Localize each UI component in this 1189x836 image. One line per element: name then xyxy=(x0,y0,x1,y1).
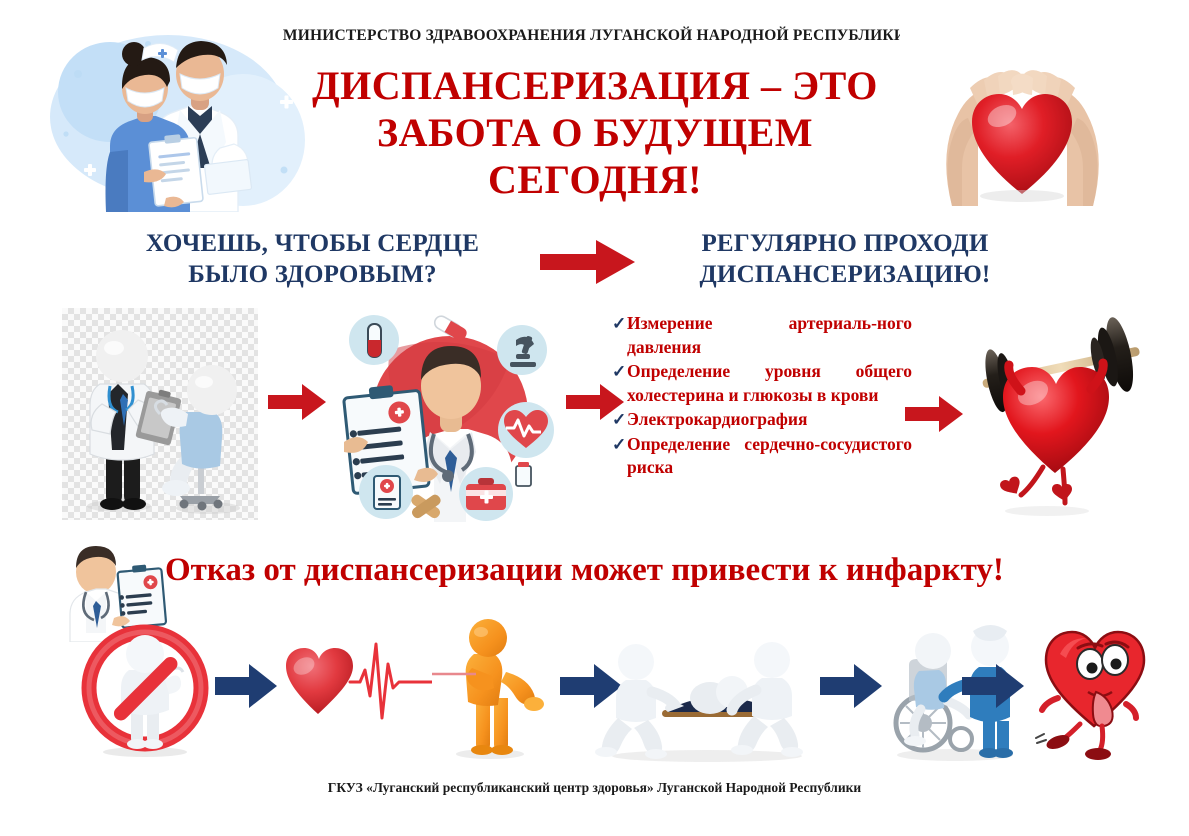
page-title: ДИСПАНСЕРИЗАЦИЯ – ЭТО ЗАБОТА О БУДУЩЕМ С… xyxy=(290,62,900,203)
red-arrow-icon xyxy=(540,238,635,286)
hands-holding-heart-illustration xyxy=(900,28,1145,208)
check-icon: ✓ xyxy=(612,433,627,456)
header-answer-line-1: РЕГУЛЯРНО ПРОХОДИ xyxy=(645,228,1045,259)
footer-organization: ГКУЗ «Луганский республиканский центр зд… xyxy=(0,780,1189,796)
header-question: ХОЧЕШЬ, ЧТОБЫ СЕРДЦЕ БЫЛО ЗДОРОВЫМ? xyxy=(115,228,510,290)
navy-arrow-icon-1 xyxy=(215,663,277,709)
list-item-label: Определение сердечно-сосудистого риска xyxy=(627,433,912,480)
header-answer-line-2: ДИСПАНСЕРИЗАЦИЮ! xyxy=(645,259,1045,290)
refusal-illustration xyxy=(65,620,225,760)
header-question-line-1: ХОЧЕШЬ, ЧТОБЫ СЕРДЦЕ xyxy=(115,228,510,259)
check-icon: ✓ xyxy=(612,312,627,335)
list-item: ✓ Определение уровня общего холестерина … xyxy=(612,360,912,407)
list-item: ✓ Измерение артериаль-ного давления xyxy=(612,312,912,359)
heart-barbell-illustration xyxy=(955,305,1160,520)
header-question-line-2: БЫЛО ЗДОРОВЫМ? xyxy=(115,259,510,290)
header-answer: РЕГУЛЯРНО ПРОХОДИ ДИСПАНСЕРИЗАЦИЮ! xyxy=(645,228,1045,290)
title-line-2: ЗАБОТА О БУДУЩЕМ xyxy=(290,109,900,156)
title-line-1: ДИСПАНСЕРИЗАЦИЯ – ЭТО xyxy=(290,62,900,109)
list-item: ✓ Электрокардиография xyxy=(612,408,912,432)
chest-pain-illustration xyxy=(432,612,562,762)
title-line-3: СЕГОДНЯ! xyxy=(290,156,900,203)
sick-heart-illustration xyxy=(1030,612,1160,762)
check-icon: ✓ xyxy=(612,408,627,431)
navy-arrow-icon-4 xyxy=(962,663,1024,709)
red-arrow-icon-2 xyxy=(268,383,326,421)
list-item: ✓ Определение сердечно-сосудистого риска xyxy=(612,433,912,480)
doctor-checklist-illustration xyxy=(330,310,562,522)
medical-staff-illustration xyxy=(48,22,310,212)
list-item-label: Электрокардиография xyxy=(627,408,912,432)
consultation-illustration xyxy=(62,308,258,520)
screening-checklist: ✓ Измерение артериаль-ного давления ✓ Оп… xyxy=(612,312,912,481)
warning-banner: Отказ от диспансеризации может привести … xyxy=(165,552,1150,589)
list-item-label: Определение уровня общего холестерина и … xyxy=(627,360,912,407)
list-item-label: Измерение артериаль-ного давления xyxy=(627,312,912,359)
check-icon: ✓ xyxy=(612,360,627,383)
stretcher-illustration xyxy=(592,618,822,764)
health-poster: МИНИСТЕРСТВО ЗДРАВООХРАНЕНИЯ ЛУГАНСКОЙ Н… xyxy=(0,0,1189,836)
navy-arrow-icon-3 xyxy=(820,663,882,709)
heart-ecg-illustration xyxy=(272,630,432,740)
